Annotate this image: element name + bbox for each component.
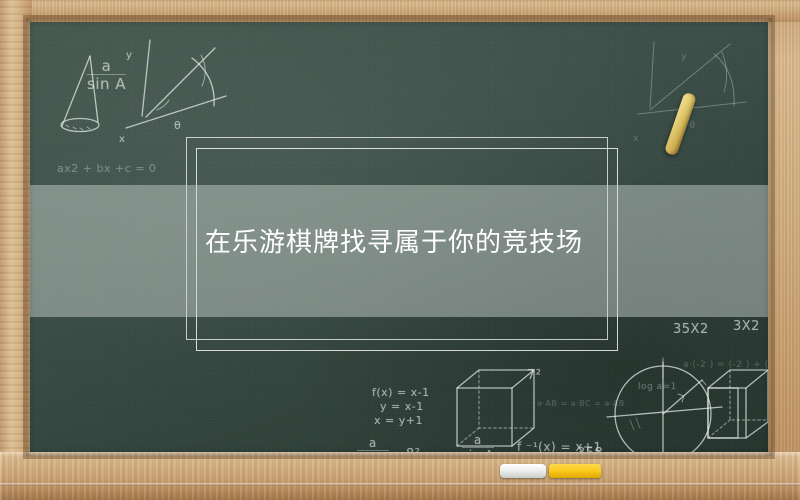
cone-sketch (61, 56, 99, 132)
ledge-white-chalk-icon (500, 464, 546, 478)
angle-label-theta-topleft: θ (174, 119, 181, 132)
note-ab-bc: a·AB = a·BC = a·AB (537, 399, 625, 408)
frame-top-rail (0, 0, 800, 22)
banner-headline: 在乐游棋牌找寻属于你的竞技场 (205, 228, 725, 258)
axis-label-y-right: y (681, 52, 687, 62)
fraction-a-over-sinA-center: a sin A (462, 434, 494, 452)
fraction-a-over-sinA-topleft: a sin A (87, 58, 126, 92)
function-line-3: x = y+1 (374, 414, 423, 427)
axis-label-x-topleft: x (119, 134, 125, 145)
angle-label-theta-right: θ (689, 120, 696, 131)
axis-label-x-right: x (633, 134, 639, 144)
inverse-function-note: f ⁻¹(x) = x+1 (517, 440, 602, 452)
function-line-2: y = x-1 (380, 400, 424, 413)
angle-axes-sketch (126, 40, 226, 128)
frame-bottom-ledge (0, 452, 800, 500)
bracket-scribble-right: a·(-2 ) = (-2 ) + (-2 ) (683, 360, 768, 370)
cube-wireframe-center (457, 370, 534, 446)
power-seven-squared: 7² (527, 368, 541, 383)
ledge-yellow-chalk-icon (549, 464, 601, 478)
log-a-equals-one-note: log a=1 (638, 382, 677, 392)
frame-right-rail (0, 0, 32, 500)
axis-label-y-topleft: y (126, 50, 132, 61)
expression-35x2: 35X2 (673, 322, 709, 337)
ledge-lip-highlight (0, 483, 800, 486)
circle-radius-sketch (607, 358, 722, 452)
quadratic-equation-note: ax2 + bx +c = 0 (57, 162, 156, 175)
expression-3x2: 3X2 (733, 319, 760, 334)
scribble-marks (630, 418, 640, 430)
banner-image: a sin A y x θ ax2 + bx +c = 0 y x θ 35X2… (0, 0, 800, 500)
fraction-a-over-sinA-left: a sin A (357, 437, 389, 452)
cube-wireframe-right (708, 370, 768, 438)
function-line-1: f(x) = x-1 (372, 386, 430, 399)
